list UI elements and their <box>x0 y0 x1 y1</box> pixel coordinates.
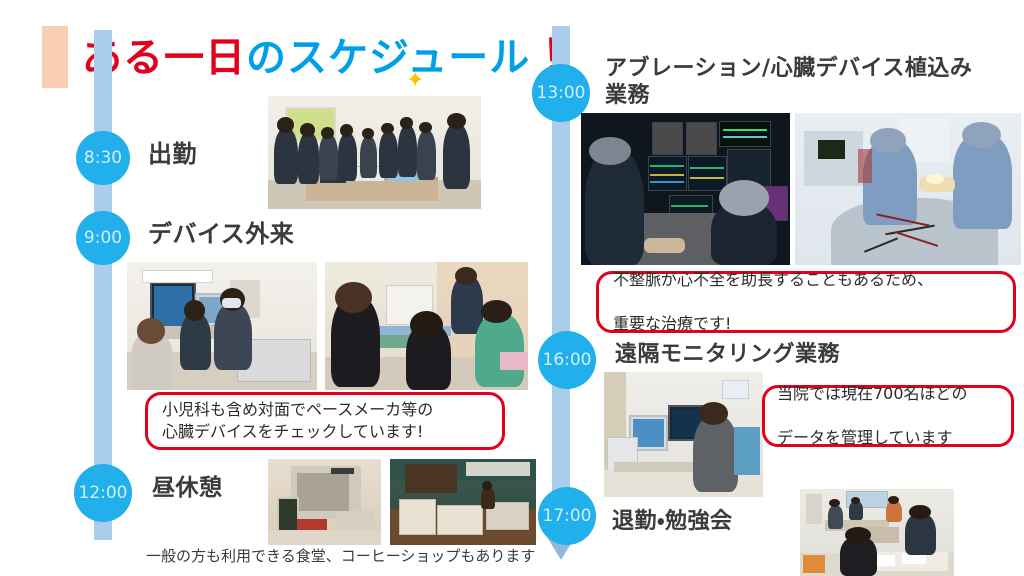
slide-root: ある一日のスケジュール！ ✦ 8:30 出勤 <box>0 0 1024 576</box>
heading-ablation-implant: アブレーション/心臓デバイス植込み 業務 <box>605 55 972 110</box>
time-badge-1700[interactable]: 17:00 <box>538 487 596 545</box>
title-blue-part: のスケジュール <box>246 35 530 81</box>
remote-monitoring-photo <box>604 372 763 497</box>
device-clinic-photo-2 <box>325 262 528 390</box>
heading-ablation-implant-line1: アブレーション/心臓デバイス植込み <box>605 55 972 82</box>
callout-device-clinic: 小児科も含め対面でペースメーカ等の 心臓デバイスをチェックしています! <box>145 392 505 450</box>
page-title: ある一日のスケジュール！ <box>82 28 575 87</box>
morning-huddle-photo <box>268 96 481 209</box>
callout-ablation-line1: 不整脈が心不全を助長することもあるため、 <box>613 269 933 291</box>
caption-lunch: 一般の方も利用できる食堂、コーヒーショップもあります <box>146 545 535 566</box>
heading-lunch-break: 昼休憩 <box>152 474 223 503</box>
study-session-photo <box>800 489 954 576</box>
heading-shukkin: 出勤 <box>148 140 197 170</box>
callout-remote-monitoring-line2: データを管理しています <box>777 427 968 449</box>
time-badge-1600[interactable]: 16:00 <box>538 331 596 389</box>
star-icon: ✦ <box>406 70 424 92</box>
callout-ablation: 不整脈が心不全を助長することもあるため、 重要な治療です! <box>596 271 1016 333</box>
heading-ablation-implant-line2: 業務 <box>605 82 972 109</box>
operating-room-photo <box>795 113 1021 265</box>
callout-remote-monitoring-line1: 当院では現在700名ほどの <box>777 383 968 405</box>
time-badge-0830[interactable]: 8:30 <box>76 131 130 185</box>
cath-lab-control-photo <box>581 113 790 265</box>
device-clinic-photo-1 <box>127 262 317 390</box>
heading-device-clinic: デバイス外来 <box>148 220 294 250</box>
time-badge-1200[interactable]: 12:00 <box>74 464 132 522</box>
title-accent-bar <box>42 26 68 88</box>
callout-device-clinic-line1: 小児科も含め対面でペースメーカ等の 心臓デバイスをチェックしています! <box>162 399 433 443</box>
heading-leave-study: 退勤・勉強会 <box>612 508 732 535</box>
coffee-shop-photo <box>390 459 536 545</box>
cafeteria-photo <box>268 459 381 545</box>
callout-ablation-line2: 重要な治療です! <box>613 313 933 335</box>
callout-remote-monitoring: 当院では現在700名ほどの データを管理しています <box>762 385 1014 447</box>
heading-remote-monitoring: 遠隔モニタリング業務 <box>615 341 840 368</box>
time-badge-0900[interactable]: 9:00 <box>76 211 130 265</box>
